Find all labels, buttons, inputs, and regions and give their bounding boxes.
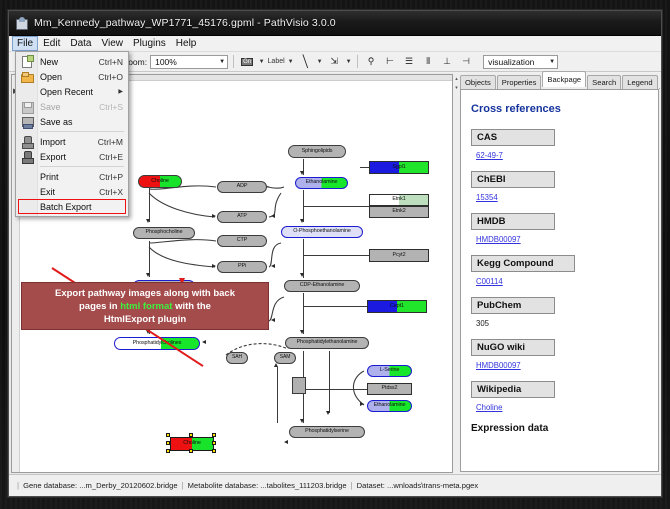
arrow-icon <box>284 440 288 444</box>
menu-item-import-accel: Ctrl+M <box>98 137 123 147</box>
line-tool-button[interactable]: ╲ <box>297 54 313 69</box>
xref-value-pubchem: 305 <box>476 319 648 328</box>
callout-line-3: HtmlExport plugin <box>55 313 235 326</box>
menu-item-open-recent-label: Open Recent <box>40 87 93 97</box>
menu-item-print-accel: Ctrl+P <box>99 172 123 182</box>
menu-item-open[interactable]: Open Ctrl+O <box>16 69 128 84</box>
datanode-tool-button[interactable]: Gn <box>239 54 255 69</box>
visualization-combobox[interactable]: visualization ▼ <box>483 55 558 69</box>
window-title: Mm_Kennedy_pathway_WP1771_45176.gpml - P… <box>34 17 336 29</box>
tab-objects[interactable]: Objects <box>460 75 496 89</box>
menu-item-batch-export[interactable]: Batch Export <box>16 199 128 214</box>
file-menu-dropdown[interactable]: New Ctrl+N Open Ctrl+O Open Recent ▶ Sav… <box>15 51 129 217</box>
align-stack-button[interactable]: ☰ <box>401 54 417 69</box>
menu-item-save-as[interactable]: Save as <box>16 114 128 129</box>
new-file-icon <box>21 56 33 68</box>
grip-arrow-down-icon: ▾ <box>455 86 458 91</box>
menu-item-import-label: Import <box>40 137 66 147</box>
selection-handle[interactable] <box>166 449 170 453</box>
chevron-down-icon: ▼ <box>549 59 555 65</box>
status-divider: | <box>182 481 184 490</box>
align-bottom-icon: ⊥ <box>443 56 451 67</box>
node-atp[interactable]: ATP <box>217 211 267 223</box>
label-dropdown-icon[interactable]: ▼ <box>287 59 294 65</box>
node-phosphatidylserine[interactable]: Phosphatidylserine <box>289 426 365 438</box>
node-adp[interactable]: ADP <box>217 181 267 193</box>
arrow-icon <box>271 264 275 268</box>
node-sam[interactable]: SAM <box>274 352 296 364</box>
menu-item-exit[interactable]: Exit Ctrl+X <box>16 184 128 199</box>
save-as-icon <box>21 116 33 128</box>
menu-item-save-accel: Ctrl+S <box>99 102 123 112</box>
pathway-shape-box[interactable] <box>292 377 306 394</box>
arrow-icon <box>271 214 275 218</box>
menu-item-new[interactable]: New Ctrl+N <box>16 54 128 69</box>
node-o-phosphoethanolamine[interactable]: O-Phosphoethanolamine <box>281 226 363 238</box>
export-icon <box>21 151 33 163</box>
node-phosphatidylcholines[interactable]: Phosphatidylcholines <box>114 337 200 350</box>
menu-item-print-label: Print <box>40 172 59 182</box>
tab-backpage[interactable]: Backpage <box>542 71 586 87</box>
menu-item-export[interactable]: Export Ctrl+E <box>16 149 128 164</box>
selection-handle[interactable] <box>189 433 193 437</box>
menu-item-open-accel: Ctrl+O <box>98 72 123 82</box>
side-panel: ▴ ▾ Objects Properties Backpage Search L… <box>453 73 661 474</box>
menu-item-export-label: Export <box>40 152 66 162</box>
anchor-tool-button[interactable]: ⚲ <box>363 54 379 69</box>
menu-item-exit-label: Exit <box>40 187 55 197</box>
callout-highlight: html format <box>120 301 172 312</box>
tab-properties[interactable]: Properties <box>497 75 542 89</box>
xref-source-wikipedia: Wikipedia <box>471 381 555 398</box>
menu-item-export-accel: Ctrl+E <box>99 152 123 162</box>
selection-handle[interactable] <box>166 433 170 437</box>
xref-source-nugo: NuGO wiki <box>471 339 555 356</box>
label-icon: Label <box>268 58 285 65</box>
menu-item-import[interactable]: Import Ctrl+M <box>16 134 128 149</box>
toolbar-separator-2 <box>357 55 358 68</box>
toolbar-separator <box>233 55 234 68</box>
chevron-down-icon: ▼ <box>219 59 225 65</box>
menu-separator-2 <box>40 166 124 167</box>
status-bar: | Gene database: ...m_Derby_20120602.bri… <box>9 474 661 496</box>
anchor-icon: ⚲ <box>368 56 375 67</box>
selection-handle[interactable] <box>189 449 193 453</box>
menu-edit[interactable]: Edit <box>38 36 65 51</box>
xref-source-kegg: Kegg Compound <box>471 255 575 272</box>
menu-separator-1 <box>40 131 124 132</box>
datanode-dropdown-icon[interactable]: ▼ <box>258 59 265 65</box>
menu-file[interactable]: File <box>12 36 38 51</box>
save-icon <box>21 101 33 113</box>
xref-source-pubchem: PubChem <box>471 297 555 314</box>
xref-source-hmdb: HMDB <box>471 213 555 230</box>
menu-view[interactable]: View <box>96 36 128 51</box>
node-choline[interactable]: Choline <box>138 175 182 188</box>
node-phosphatidylethanolamine[interactable]: Phosphatidylethanolamine <box>285 337 369 349</box>
align-stack-icon: ☰ <box>405 56 413 67</box>
selection-handle[interactable] <box>212 433 216 437</box>
panel-drag-handle[interactable]: ▴ ▾ <box>454 77 459 91</box>
node-ethanolamine-bottom[interactable]: Ethanolamine <box>367 400 412 412</box>
node-gene-etnk1[interactable]: Etnk1 <box>369 194 429 206</box>
node-cdp-ethanolamine[interactable]: CDP-Ethanolamine <box>284 280 360 292</box>
node-phosphocholine[interactable]: Phosphocholine <box>133 227 195 239</box>
xref-link-hmdb[interactable]: HMDB00097 <box>476 235 521 244</box>
menu-help[interactable]: Help <box>171 36 202 51</box>
selection-handle[interactable] <box>212 449 216 453</box>
align-right-button[interactable]: ⊣ <box>458 54 474 69</box>
grip-arrow-up-icon: ▴ <box>455 77 458 82</box>
menu-item-save: Save Ctrl+S <box>16 99 128 114</box>
align-bottom-button[interactable]: ⊥ <box>439 54 455 69</box>
status-gene-database: Gene database: ...m_Derby_20120602.bridg… <box>23 481 178 490</box>
menu-item-open-label: Open <box>40 72 62 82</box>
xref-link-chebi[interactable]: 15354 <box>476 193 498 202</box>
node-ethanolamine-top[interactable]: Ethanolamine <box>295 177 348 189</box>
menu-item-save-label: Save <box>40 102 61 112</box>
zoom-value: 100% <box>155 57 177 67</box>
node-gene-cept1[interactable]: Cept1 <box>367 300 427 313</box>
menu-plugins[interactable]: Plugins <box>128 36 171 51</box>
menu-item-new-accel: Ctrl+N <box>99 57 123 67</box>
node-gene-etnk2[interactable]: Etnk2 <box>369 206 429 218</box>
arrow-icon <box>360 402 364 406</box>
node-ppi[interactable]: PPi <box>217 261 267 273</box>
interaction-icon: ⇲ <box>330 56 338 67</box>
title-bar: Mm_Kennedy_pathway_WP1771_45176.gpml - P… <box>9 11 661 36</box>
zoom-combobox[interactable]: 100% ▼ <box>150 55 228 69</box>
xref-link-kegg[interactable]: C00114 <box>476 277 503 286</box>
panel-tabs: Objects Properties Backpage Search Legen… <box>453 75 659 89</box>
menu-item-batch-export-label: Batch Export <box>40 202 92 212</box>
align-columns-icon: ⫴ <box>426 56 430 67</box>
menu-item-open-recent[interactable]: Open Recent ▶ <box>16 84 128 99</box>
menu-item-exit-accel: Ctrl+X <box>99 187 123 197</box>
menu-item-print[interactable]: Print Ctrl+P <box>16 169 128 184</box>
selection-handle[interactable] <box>166 441 170 445</box>
menu-item-save-as-label: Save as <box>40 117 73 127</box>
status-divider: | <box>351 481 353 490</box>
xref-source-chebi: ChEBI <box>471 171 555 188</box>
node-gene-ptdss2[interactable]: Ptdss2 <box>367 383 412 395</box>
arrow-icon <box>202 340 206 344</box>
tab-search[interactable]: Search <box>587 75 621 89</box>
node-sah[interactable]: SAH <box>226 352 248 364</box>
status-divider: | <box>17 481 19 490</box>
interaction-tool-button[interactable]: ⇲ <box>326 54 342 69</box>
xref-link-cas[interactable]: 62-49-7 <box>476 151 503 160</box>
node-sphingolipids[interactable]: Sphingolipids <box>288 145 346 158</box>
backpage-panel: Cross references CAS 62-49-7 ChEBI 15354… <box>460 89 659 472</box>
xref-source-cas: CAS <box>471 129 555 146</box>
align-left-button[interactable]: ⊢ <box>382 54 398 69</box>
status-dataset: Dataset: ...wnloads\trans-meta.pgex <box>357 481 479 490</box>
menu-data[interactable]: Data <box>65 36 96 51</box>
label-tool-button[interactable]: Label <box>268 54 284 69</box>
xref-link-nugo[interactable]: HMDB00097 <box>476 361 521 370</box>
node-gene-sgpl1[interactable]: Sgpl1 <box>369 161 429 174</box>
align-columns-button[interactable]: ⫴ <box>420 54 436 69</box>
gene-product-icon: Gn <box>241 58 253 66</box>
arrow-icon <box>212 264 216 268</box>
node-l-serine[interactable]: L-Serine <box>367 365 412 377</box>
import-icon <box>21 136 33 148</box>
callout-line-2a: pages in <box>79 301 120 312</box>
tab-legend[interactable]: Legend <box>622 75 657 89</box>
arrow-icon <box>271 318 275 322</box>
line-icon: ╲ <box>301 55 309 69</box>
application-window: Mm_Kennedy_pathway_WP1771_45176.gpml - P… <box>8 10 662 497</box>
annotation-callout: Export pathway images along with back pa… <box>21 282 269 330</box>
pathvisio-app-icon <box>15 17 28 30</box>
status-metabolite-database: Metabolite database: ...tabolites_111203… <box>188 481 347 490</box>
screenshot-root: Mm_Kennedy_pathway_WP1771_45176.gpml - P… <box>0 0 670 509</box>
callout-line-1: Export pathway images along with back <box>55 287 235 300</box>
interaction-dropdown-icon[interactable]: ▼ <box>345 59 352 65</box>
node-gene-pcyt2[interactable]: Pcyt2 <box>369 249 429 262</box>
expression-data-heading: Expression data <box>471 423 648 434</box>
node-ctp[interactable]: CTP <box>217 235 267 247</box>
line-dropdown-icon[interactable]: ▼ <box>316 59 323 65</box>
callout-line-2b: with the <box>172 301 211 312</box>
align-right-icon: ⊣ <box>462 56 470 67</box>
xref-link-wikipedia[interactable]: Choline <box>476 403 502 412</box>
chevron-right-icon: ▶ <box>118 88 123 95</box>
visualization-value: visualization <box>488 57 534 67</box>
menu-item-new-label: New <box>40 57 58 67</box>
open-folder-icon <box>21 71 33 83</box>
cross-references-heading: Cross references <box>471 103 648 115</box>
selection-handle[interactable] <box>212 441 216 445</box>
align-left-icon: ⊢ <box>386 56 394 67</box>
menu-bar: File Edit Data View Plugins Help <box>9 36 661 52</box>
arrow-icon <box>212 214 216 218</box>
